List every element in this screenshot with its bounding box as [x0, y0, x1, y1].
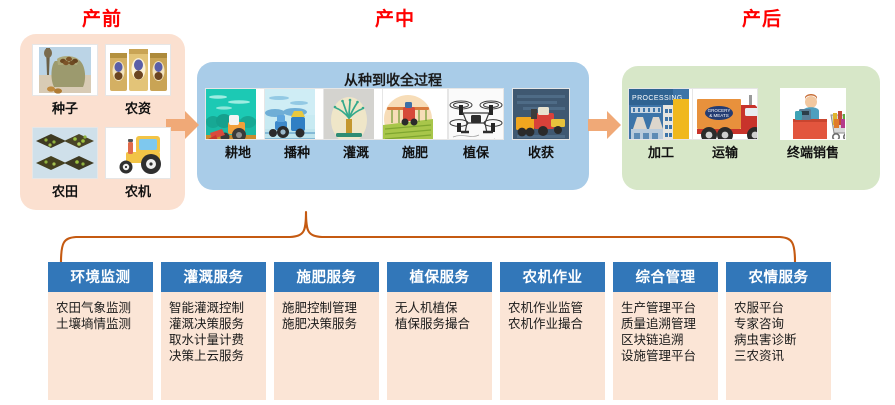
item-seed-label: 种子 [32, 98, 98, 117]
item-transport-label: 运输 [692, 142, 758, 161]
service-item: 病虫害诊断 [734, 332, 825, 348]
service-item: 智能灌溉控制 [169, 300, 260, 316]
service-card-title: 综合管理 [613, 262, 718, 292]
seed-sack-icon [32, 44, 98, 96]
item-harvest-label: 收获 [512, 142, 570, 161]
service-item: 质量追溯管理 [621, 316, 712, 332]
item-irrigation-label: 灌溉 [323, 142, 389, 161]
stage-title-pre: 产前 [22, 4, 182, 31]
delivery-truck-icon: GROCERY & MEATS [692, 88, 758, 140]
service-card-title: 灌溉服务 [161, 262, 266, 292]
item-retail-sales: 终端销售 [780, 88, 846, 161]
service-item: 土壤墒情监测 [56, 316, 147, 332]
service-card-title: 植保服务 [387, 262, 492, 292]
fertilizer-sprayer-icon [382, 88, 448, 140]
service-card-body: 智能灌溉控制灌溉决策服务取水计量计费决策上云服务 [161, 292, 266, 400]
service-item: 农服平台 [734, 300, 825, 316]
service-card[interactable]: 灌溉服务智能灌溉控制灌溉决策服务取水计量计费决策上云服务 [161, 262, 266, 400]
item-plant-protection-label: 植保 [448, 142, 504, 161]
service-card[interactable]: 农机作业农机作业监管农机作业撮合 [500, 262, 605, 400]
service-card-body: 生产管理平台质量追溯管理区块链追溯设施管理平台 [613, 292, 718, 400]
service-card[interactable]: 植保服务无人机植保植保服务撮合 [387, 262, 492, 400]
service-item: 施肥决策服务 [282, 316, 373, 332]
arrow-mid-to-post-icon [588, 110, 622, 145]
item-agri-supplies: 农资 [105, 44, 171, 117]
item-fertilizing-label: 施肥 [382, 142, 448, 161]
service-card-body: 无人机植保植保服务撮合 [387, 292, 492, 400]
service-card[interactable]: 综合管理生产管理平台质量追溯管理区块链追溯设施管理平台 [613, 262, 718, 400]
tractor-icon [105, 127, 171, 179]
drone-sketch-icon [448, 88, 504, 140]
service-card-body: 农田气象监测土壤墒情监测 [48, 292, 153, 400]
item-machinery-label: 农机 [105, 181, 171, 200]
agriculture-value-chain-diagram: 产前 产中 产后 从种到收全过程 [0, 0, 895, 405]
service-card-body: 农服平台专家咨询病虫害诊断三农资讯 [726, 292, 831, 400]
item-fertilizing: 施肥 [382, 88, 448, 161]
farmland-plots-icon [32, 127, 98, 179]
service-item: 农田气象监测 [56, 300, 147, 316]
service-item: 生产管理平台 [621, 300, 712, 316]
item-processing: PROCESSING [628, 88, 694, 161]
item-plant-protection: 植保 [448, 88, 504, 161]
service-card-row: 环境监测农田气象监测土壤墒情监测灌溉服务智能灌溉控制灌溉决策服务取水计量计费决策… [48, 262, 831, 400]
item-processing-label: 加工 [628, 142, 694, 161]
service-item: 农机作业撮合 [508, 316, 599, 332]
item-agri-supplies-label: 农资 [105, 98, 171, 117]
item-plowing-label: 耕地 [205, 142, 271, 161]
service-item: 决策上云服务 [169, 348, 260, 364]
harvester-icon [512, 88, 570, 140]
stage-title-post: 产后 [672, 4, 852, 31]
service-card-body: 农机作业监管农机作业撮合 [500, 292, 605, 400]
item-farmland-label: 农田 [32, 181, 98, 200]
processing-plant-icon: PROCESSING [628, 88, 694, 140]
item-seed: 种子 [32, 44, 98, 117]
service-item: 施肥控制管理 [282, 300, 373, 316]
item-plowing: 耕地 [205, 88, 271, 161]
service-item: 农机作业监管 [508, 300, 599, 316]
retail-checkout-icon [780, 88, 846, 140]
service-card-body: 施肥控制管理施肥决策服务 [274, 292, 379, 400]
service-card-title: 施肥服务 [274, 262, 379, 292]
item-irrigation: 灌溉 [323, 88, 389, 161]
service-item: 植保服务撮合 [395, 316, 486, 332]
fertilizer-bags-icon [105, 44, 171, 96]
arrow-pre-to-mid-icon [166, 110, 200, 145]
service-card[interactable]: 施肥服务施肥控制管理施肥决策服务 [274, 262, 379, 400]
service-item: 三农资讯 [734, 348, 825, 364]
item-sowing: 播种 [264, 88, 330, 161]
svg-text:& MEATS: & MEATS [709, 113, 728, 118]
service-item: 灌溉决策服务 [169, 316, 260, 332]
sprinkler-icon [323, 88, 389, 140]
stage-title-mid: 产中 [295, 4, 495, 31]
panel-mid-heading: 从种到收全过程 [197, 70, 589, 90]
item-machinery: 农机 [105, 127, 171, 200]
item-farmland: 农田 [32, 127, 98, 200]
service-card-title: 环境监测 [48, 262, 153, 292]
item-transport: GROCERY & MEATS 运输 [692, 88, 758, 161]
service-card[interactable]: 环境监测农田气象监测土壤墒情监测 [48, 262, 153, 400]
item-harvest: 收获 [512, 88, 570, 161]
service-item: 取水计量计费 [169, 332, 260, 348]
service-item: 设施管理平台 [621, 348, 712, 364]
service-card-title: 农情服务 [726, 262, 831, 292]
service-card-title: 农机作业 [500, 262, 605, 292]
seeding-tractor-icon [264, 88, 330, 140]
service-item: 区块链追溯 [621, 332, 712, 348]
service-item: 专家咨询 [734, 316, 825, 332]
service-card[interactable]: 农情服务农服平台专家咨询病虫害诊断三农资讯 [726, 262, 831, 400]
service-item: 无人机植保 [395, 300, 486, 316]
item-sowing-label: 播种 [264, 142, 330, 161]
plowing-tractor-icon [205, 88, 271, 140]
item-retail-sales-label: 终端销售 [780, 142, 846, 161]
